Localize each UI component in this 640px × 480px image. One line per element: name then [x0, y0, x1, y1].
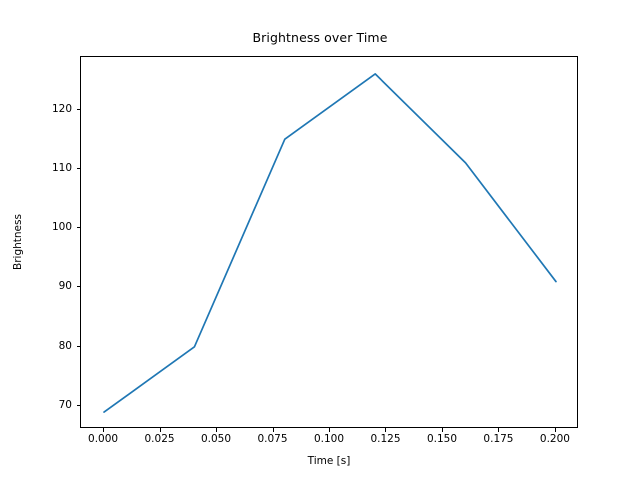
x-axis-tick-labels: 0.0000.0250.0500.0750.1000.1250.1500.175…: [80, 433, 578, 449]
x-tick-label: 0.100: [314, 433, 344, 445]
x-tick-mark: [103, 428, 104, 432]
x-tick-label: 0.200: [540, 433, 570, 445]
x-tick-label: 0.150: [427, 433, 457, 445]
line-plot: [81, 57, 579, 429]
x-tick-label: 0.175: [483, 433, 513, 445]
chart-title: Brightness over Time: [0, 30, 640, 45]
x-tick-mark: [273, 428, 274, 432]
x-axis-label: Time [s]: [80, 455, 578, 467]
x-tick-mark: [498, 428, 499, 432]
x-tick-label: 0.075: [257, 433, 287, 445]
x-tick-mark: [216, 428, 217, 432]
chart-figure: Brightness over Time 708090100110120 0.0…: [0, 0, 640, 480]
x-tick-label: 0.025: [145, 433, 175, 445]
x-tick-mark: [442, 428, 443, 432]
x-tick-mark: [329, 428, 330, 432]
x-tick-label: 0.000: [88, 433, 118, 445]
x-tick-mark: [555, 428, 556, 432]
x-tick-label: 0.050: [201, 433, 231, 445]
x-tick-label: 0.125: [370, 433, 400, 445]
y-axis-label: Brightness: [12, 56, 28, 428]
x-tick-mark: [385, 428, 386, 432]
x-tick-mark: [160, 428, 161, 432]
plot-axes-area: [80, 56, 578, 428]
data-series-brightness: [104, 74, 556, 412]
